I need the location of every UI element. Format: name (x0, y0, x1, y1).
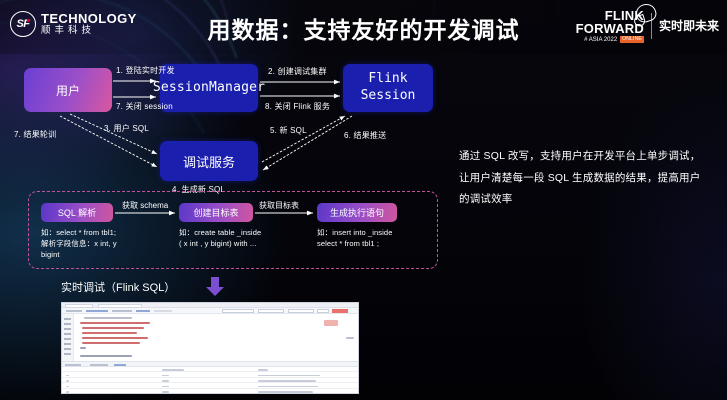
pipeline-step-generate-statement-label: 生成执行语句 (330, 206, 384, 219)
edge-label-5: 5. 新 SQL (270, 125, 307, 136)
pipeline-connector-label-target-table: 获取目标表 (259, 200, 299, 211)
screenshot-caption: 实时调试（Flink SQL） (61, 279, 175, 295)
edge-label-2: 2. 创建调试集群 (268, 66, 327, 77)
flink-forward-wordmark: FLINK FORWARD # ASIA 2022 ONLINE (576, 9, 644, 43)
event-slogan-text: 实时即未来 (659, 19, 719, 33)
screenshot-result-grid[interactable] (62, 367, 358, 394)
sql-rewrite-pipeline: SQL 解析 创建目标表 生成执行语句 获取 schema 获取目标表 如：se… (28, 191, 438, 269)
edge-label-7-close-session: 7. 关闭 session (116, 101, 173, 112)
edge-label-6: 6. 结果推送 (344, 130, 386, 141)
edge-label-1: 1. 登陆实时开发 (116, 65, 175, 76)
edge-label-8: 8. 关闭 Flink 服务 (265, 101, 330, 112)
pipeline-step-create-target-table[interactable]: 创建目标表 (179, 203, 253, 222)
flow-node-session-manager-label: SessionManager (153, 80, 265, 96)
squirrel-icon (634, 1, 659, 24)
flow-node-flink-session[interactable]: Flink Session (343, 64, 433, 112)
flink-sql-editor-screenshot[interactable] (61, 302, 359, 394)
flow-node-user-label: 用户 (56, 82, 80, 99)
flow-node-debug-service[interactable]: 调试服务 (160, 141, 258, 181)
screenshot-line-gutter (62, 314, 74, 361)
screenshot-code-editor[interactable] (62, 314, 358, 361)
slide-root: SF TECHNOLOGY 顺丰科技 用数据：支持友好的开发调试 FLINK F… (0, 0, 727, 400)
pipeline-desc-create-target-table: 如：create table _inside ( x int , y bigin… (179, 228, 314, 250)
event-edition-text: # ASIA 2022 (584, 37, 617, 43)
flink-forward-line3: # ASIA 2022 ONLINE (576, 36, 644, 43)
table-row (62, 389, 358, 394)
slide-header: SF TECHNOLOGY 顺丰科技 用数据：支持友好的开发调试 FLINK F… (0, 0, 727, 54)
pipeline-step-sql-parse-label: SQL 解析 (58, 206, 96, 219)
down-arrow-icon (204, 276, 226, 298)
pipeline-step-create-target-table-label: 创建目标表 (193, 206, 238, 219)
pipeline-step-sql-parse[interactable]: SQL 解析 (41, 203, 113, 222)
pipeline-connector-label-schema: 获取 schema (122, 200, 168, 211)
online-badge: ONLINE (620, 36, 644, 43)
pipeline-desc-sql-parse: 如：select * from tbl1; 解析字段信息：x int, y bi… (41, 228, 171, 261)
flow-node-user[interactable]: 用户 (24, 68, 112, 112)
flow-node-flink-session-label: Flink Session (361, 71, 416, 105)
edge-label-7-poll: 7. 结果轮训 (14, 129, 56, 140)
flow-node-debug-service-label: 调试服务 (183, 152, 235, 171)
description-paragraph: 通过 SQL 改写，支持用户在开发平台上单步调试，让用户清楚每一段 SQL 生成… (459, 146, 711, 211)
flink-forward-logo: FLINK FORWARD # ASIA 2022 ONLINE 实时即未来 (576, 9, 719, 43)
event-slogan-cn: 实时即未来 (659, 20, 719, 32)
pipeline-desc-generate-statement: 如：insert into _inside select * from tbl1… (317, 228, 437, 250)
edge-label-3: 3. 用户 SQL (104, 123, 149, 134)
pipeline-step-generate-statement[interactable]: 生成执行语句 (317, 203, 397, 222)
flink-forward-line2: FORWARD (576, 22, 644, 35)
